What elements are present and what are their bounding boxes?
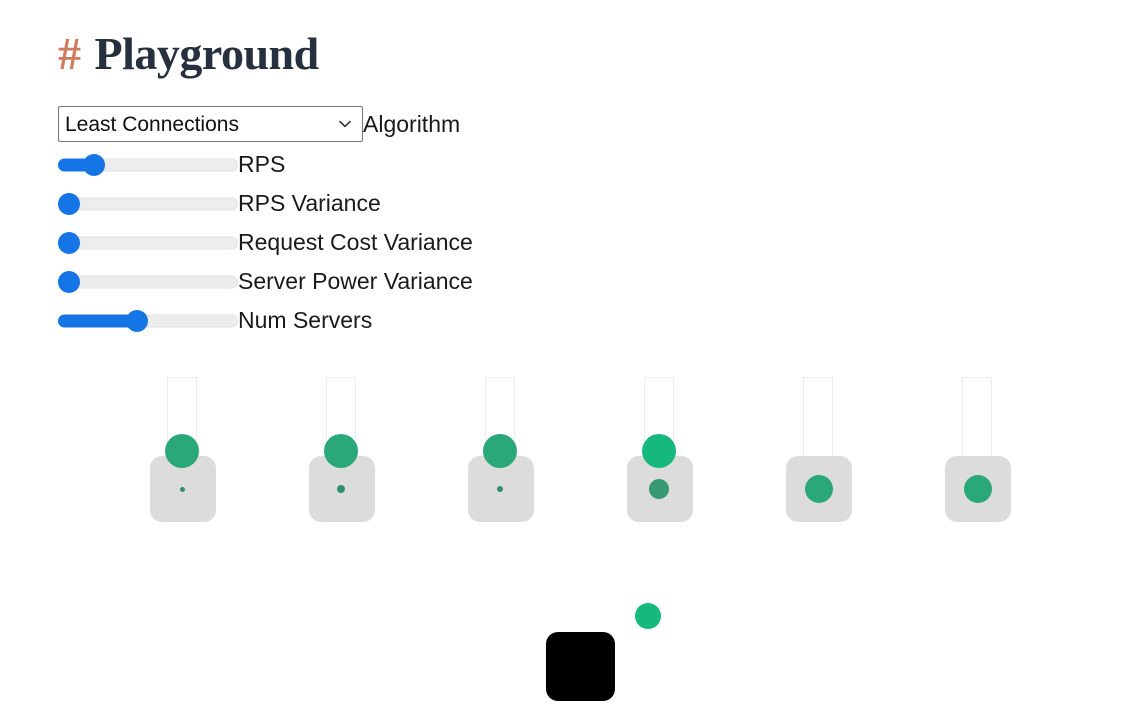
slider-thumb[interactable] [58, 271, 80, 293]
server-processing-request [180, 487, 185, 492]
server-box[interactable] [786, 456, 852, 522]
slider-label: RPS Variance [238, 192, 381, 215]
server-queue-tube [326, 377, 356, 459]
server-processing-request [964, 475, 992, 503]
algorithm-label: Algorithm [363, 113, 460, 136]
slider-row: Num Servers [58, 301, 758, 340]
slider-num-servers[interactable] [58, 310, 238, 332]
slider-label: Request Cost Variance [238, 231, 473, 254]
slider-track [58, 197, 238, 210]
slider-label: Server Power Variance [238, 270, 473, 293]
server-processing-request [805, 475, 833, 503]
slider-thumb[interactable] [58, 193, 80, 215]
server-processing-request [497, 486, 503, 492]
server-queue-tube [803, 377, 833, 459]
slider-thumb[interactable] [126, 310, 148, 332]
in-flight-request [635, 603, 661, 629]
server-queue-tube [485, 377, 515, 459]
server-box[interactable] [309, 456, 375, 522]
slider-thumb[interactable] [58, 232, 80, 254]
server-queued-request [483, 434, 517, 468]
server-processing-request [649, 479, 669, 499]
server-queue-tube [962, 377, 992, 459]
server-processing-request [337, 485, 345, 493]
slider-row: Server Power Variance [58, 262, 758, 301]
server-box[interactable] [468, 456, 534, 522]
server-queue-tube [167, 377, 197, 459]
slider-rps-variance[interactable] [58, 193, 238, 215]
page-title: #Playground [58, 28, 319, 81]
algorithm-row: Round RobinLeast ConnectionsRandomWeight… [58, 106, 758, 142]
slider-row: RPS [58, 145, 758, 184]
server-box[interactable] [150, 456, 216, 522]
server-queue-tube [644, 377, 674, 459]
controls-panel: Round RobinLeast ConnectionsRandomWeight… [58, 106, 758, 340]
algorithm-select-wrap[interactable]: Round RobinLeast ConnectionsRandomWeight… [58, 106, 363, 142]
hash-icon: # [58, 28, 81, 79]
slider-track [58, 236, 238, 249]
slider-row: Request Cost Variance [58, 223, 758, 262]
server-queued-request [642, 434, 676, 468]
page-title-text: Playground [95, 28, 319, 79]
slider-label: RPS [238, 153, 285, 176]
slider-thumb[interactable] [83, 154, 105, 176]
playground-page: #Playground Round RobinLeast Connections… [0, 0, 1144, 721]
server-box[interactable] [627, 456, 693, 522]
slider-track [58, 275, 238, 288]
server-box[interactable] [945, 456, 1011, 522]
server-queued-request [324, 434, 358, 468]
slider-server-power-variance[interactable] [58, 271, 238, 293]
algorithm-select[interactable]: Round RobinLeast ConnectionsRandomWeight… [58, 106, 363, 142]
slider-label: Num Servers [238, 309, 372, 332]
slider-request-cost-variance[interactable] [58, 232, 238, 254]
slider-rps[interactable] [58, 154, 238, 176]
slider-list: RPSRPS VarianceRequest Cost VarianceServ… [58, 145, 758, 340]
server-queued-request [165, 434, 199, 468]
load-balancer-box[interactable] [546, 632, 615, 701]
slider-row: RPS Variance [58, 184, 758, 223]
